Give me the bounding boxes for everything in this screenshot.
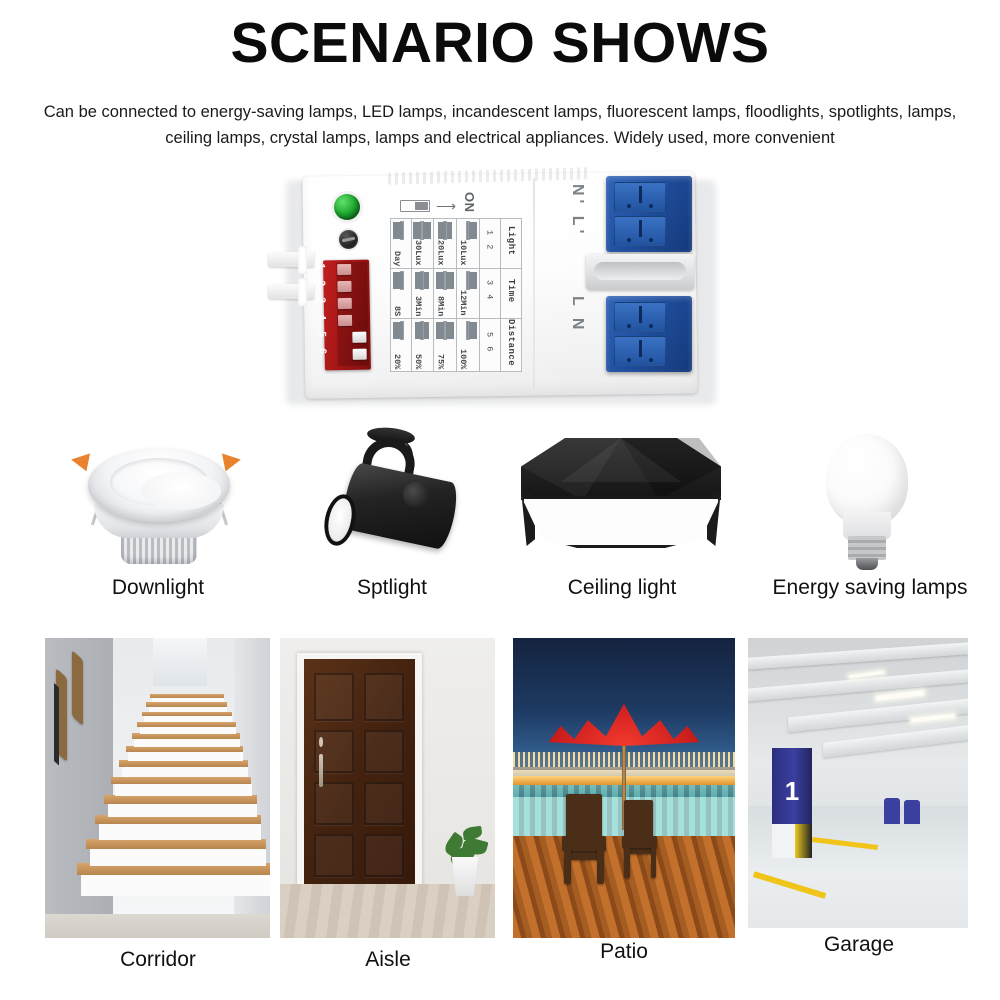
option-label: Day — [392, 251, 402, 266]
page-title: SCENARIO SHOWS — [0, 14, 1000, 74]
product-spotlight: Sptlight — [267, 420, 517, 620]
scenario-shows-infographic: SCENARIO SHOWS Can be connected to energ… — [0, 0, 1000, 1000]
ceiling-light-diffuser — [521, 496, 721, 548]
dip-number: 5 — [316, 331, 327, 343]
red-dip-switch-block[interactable]: 1 2 3 4 5 6 — [323, 260, 371, 371]
product-ceiling-light: Ceiling light — [497, 420, 747, 620]
switch-number-cell: 5 6 — [479, 319, 500, 372]
dip-lever[interactable] — [338, 298, 352, 309]
mounting-tab — [268, 284, 314, 299]
spotlight-tilt-knob — [403, 482, 429, 508]
dip-lever[interactable] — [353, 349, 367, 360]
downlight-trim — [88, 448, 230, 522]
option-cell: 30Lux — [411, 219, 434, 269]
dip-lever[interactable] — [338, 315, 352, 326]
dip-row[interactable]: 4 — [324, 313, 370, 330]
dip-row[interactable]: 3 — [324, 296, 370, 313]
option-label: 75% — [435, 354, 445, 369]
table-row: Day 30Lux 20Lux — [391, 219, 522, 269]
on-label: ON — [462, 192, 477, 213]
product-energy-saving-lamp: Energy saving lamps — [740, 420, 1000, 620]
row-name-cell: Distance — [500, 319, 521, 372]
switch-numbers: 5 6 — [485, 332, 495, 353]
black-adjustment-screw[interactable] — [339, 230, 358, 249]
option-cell: 3Min — [411, 269, 434, 319]
led-bulb-art — [740, 420, 1000, 575]
scene-caption: Garage — [714, 933, 1000, 957]
compatible-lamp-types-row: Downlight Sptlight Ce — [0, 420, 1000, 620]
table-row: 8S 3Min 8Min — [391, 269, 522, 319]
recessed-downlight-art — [33, 420, 283, 575]
dip-lever[interactable] — [337, 281, 351, 292]
product-caption: Sptlight — [267, 576, 517, 600]
track-spotlight-art — [267, 420, 517, 575]
device-seam — [533, 178, 535, 388]
on-indicator-row: ⟶ ON — [400, 192, 520, 218]
product-caption: Ceiling light — [497, 576, 747, 600]
row-name: Time — [506, 279, 516, 303]
option-cell: 75% — [434, 319, 457, 372]
option-cell: 12Min — [457, 269, 480, 319]
bulb-contact-tip — [856, 558, 878, 570]
switch-number-cell: 1 2 — [479, 219, 500, 269]
parking-pillar: 1 — [772, 748, 812, 835]
output-terminal-label: N' L' — [568, 184, 586, 237]
option-cell: Day — [391, 219, 412, 269]
row-name: Light — [506, 226, 516, 256]
dip-lever[interactable] — [337, 264, 351, 275]
input-terminal-label: L N — [568, 296, 586, 333]
option-cell: 8Min — [434, 269, 457, 319]
option-label: 8Min — [435, 296, 445, 316]
green-led-indicator — [334, 194, 360, 220]
wooden-door — [304, 659, 416, 896]
dip-lever[interactable] — [352, 332, 366, 343]
option-cell: 50% — [411, 319, 434, 372]
parking-garage-photo: 1 — [748, 638, 968, 928]
arrow-right-icon: ⟶ — [436, 200, 456, 212]
bulb-screw-base — [848, 536, 886, 560]
row-name: Distance — [506, 319, 516, 366]
dip-number: 4 — [316, 314, 327, 326]
option-label: 12Min — [458, 290, 468, 316]
option-cell: 10Lux — [457, 219, 480, 269]
table-row: 20% 50% 75% — [391, 319, 522, 372]
switch-numbers: 1 2 — [485, 230, 495, 251]
motion-sensor-device: 1 2 3 4 5 6 ⟶ ON — [268, 168, 738, 413]
option-cell: 8S — [391, 269, 412, 319]
dip-number: 6 — [317, 348, 328, 360]
option-label: 50% — [413, 354, 423, 369]
option-cell: 20Lux — [434, 219, 457, 269]
dip-number: 3 — [316, 297, 327, 309]
mounting-tab — [268, 252, 314, 267]
door-peephole-icon — [319, 737, 323, 746]
downlight-diffuser — [141, 472, 221, 510]
option-label: 100% — [458, 349, 468, 369]
dip-number: 1 — [315, 263, 326, 275]
option-label: 20% — [392, 354, 402, 369]
page-subtitle: Can be connected to energy-saving lamps,… — [30, 100, 970, 151]
row-name-cell: Time — [500, 269, 521, 319]
option-label: 3Min — [413, 296, 423, 316]
mounting-notch — [298, 278, 307, 306]
pillar-number: 1 — [772, 748, 812, 835]
input-terminal-connector — [606, 296, 692, 372]
spotlight-barrel — [339, 461, 461, 550]
staircase-photo — [45, 638, 270, 938]
entry-door-photo — [280, 638, 495, 938]
product-caption: Downlight — [33, 576, 283, 600]
option-label: 20Lux — [435, 240, 445, 266]
dip-row[interactable]: 1 — [323, 262, 369, 279]
mounting-notch — [298, 246, 307, 274]
option-cell: 20% — [391, 319, 412, 372]
row-name-cell: Light — [500, 219, 521, 269]
dip-number: 2 — [315, 280, 326, 292]
switch-number-cell: 3 4 — [479, 269, 500, 319]
dip-row[interactable]: 6 — [325, 347, 371, 364]
deck-umbrella-photo — [513, 638, 735, 938]
dip-row[interactable]: 2 — [323, 279, 369, 296]
product-downlight: Downlight — [33, 420, 283, 620]
switch-glyph-icon — [400, 200, 430, 212]
settings-table: Day 30Lux 20Lux — [390, 218, 522, 372]
option-cell: 100% — [457, 319, 480, 372]
device-settings-label: ⟶ ON Day 30Lux — [380, 188, 530, 376]
octagonal-ceiling-light-art — [497, 420, 747, 575]
option-label: 30Lux — [413, 240, 423, 266]
option-label: 10Lux — [458, 240, 468, 266]
output-terminal-connector — [606, 176, 692, 252]
downlight-reflector — [110, 458, 208, 506]
switch-numbers: 3 4 — [485, 280, 495, 301]
product-caption: Energy saving lamps — [740, 576, 1000, 600]
application-scenes-row: Corridor — [0, 630, 1000, 1000]
option-label: 8S — [392, 306, 402, 316]
pillar-base-marking — [772, 824, 812, 859]
door-handle[interactable] — [319, 754, 322, 787]
dip-row[interactable]: 5 — [324, 330, 370, 347]
din-rail-clip — [586, 254, 694, 290]
